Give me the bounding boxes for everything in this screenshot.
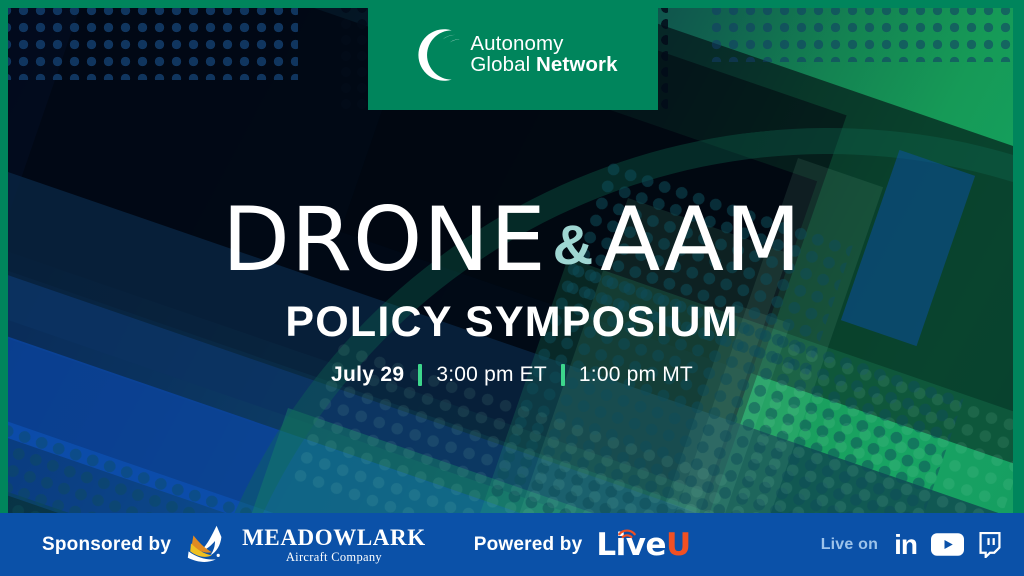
sponsor-group: Sponsored by MEADOWLARK Aircraft Company — [42, 525, 426, 565]
bg-dotgrid-1 — [8, 8, 298, 80]
platform-logo-liveu[interactable]: Live U — [596, 527, 690, 563]
live-on-group: Live on in — [821, 531, 1002, 559]
title-ampersand: & — [547, 213, 600, 276]
wifi-signal-icon — [616, 524, 638, 539]
logo-line-2-bold: Network — [536, 53, 618, 76]
headline-block: DRONE&AAM POLICY SYMPOSIUM July 29 3:00 … — [0, 196, 1024, 387]
logo-line-1: Autonomy — [470, 34, 617, 55]
title-part-1: DRONE — [222, 188, 547, 291]
brand-logo-plate: Autonomy Global Network — [368, 0, 658, 110]
meadowlark-bird-icon — [187, 525, 235, 565]
twitch-icon[interactable] — [978, 532, 1002, 558]
schedule-row: July 29 3:00 pm ET 1:00 pm MT — [0, 363, 1024, 387]
platform-name-accent: U — [666, 527, 691, 563]
live-on-label: Live on — [821, 536, 878, 554]
powered-by-label: Powered by — [474, 534, 583, 556]
event-time-et: 3:00 pm ET — [436, 363, 547, 387]
youtube-icon[interactable] — [931, 533, 964, 556]
footer-bar: Sponsored by MEADOWLARK Aircraft Company… — [0, 513, 1024, 576]
powered-by-group: Powered by Live U — [474, 527, 691, 563]
schedule-separator-icon — [418, 364, 422, 386]
bg-dotgrid-3 — [708, 8, 1013, 62]
sponsor-name: MEADOWLARK — [242, 526, 426, 549]
autonomy-crescent-mark — [408, 27, 464, 83]
sponsored-by-label: Sponsored by — [42, 534, 171, 556]
title-part-2: AAM — [600, 188, 802, 291]
logo-line-2-light: Global — [470, 53, 536, 76]
schedule-separator-icon — [561, 364, 565, 386]
event-promo-banner: Autonomy Global Network DRONE&AAM POLICY… — [0, 0, 1024, 576]
logo-line-2: Global Network — [470, 55, 617, 76]
page-subtitle: POLICY SYMPOSIUM — [0, 298, 1024, 347]
social-links: in — [894, 531, 1002, 559]
page-title: DRONE&AAM — [0, 196, 1024, 284]
sponsor-logo-meadowlark[interactable]: MEADOWLARK Aircraft Company — [187, 525, 426, 565]
event-time-mt: 1:00 pm MT — [579, 363, 693, 387]
event-date: July 29 — [331, 363, 404, 387]
linkedin-icon[interactable]: in — [894, 531, 917, 559]
sponsor-tagline: Aircraft Company — [242, 551, 426, 564]
